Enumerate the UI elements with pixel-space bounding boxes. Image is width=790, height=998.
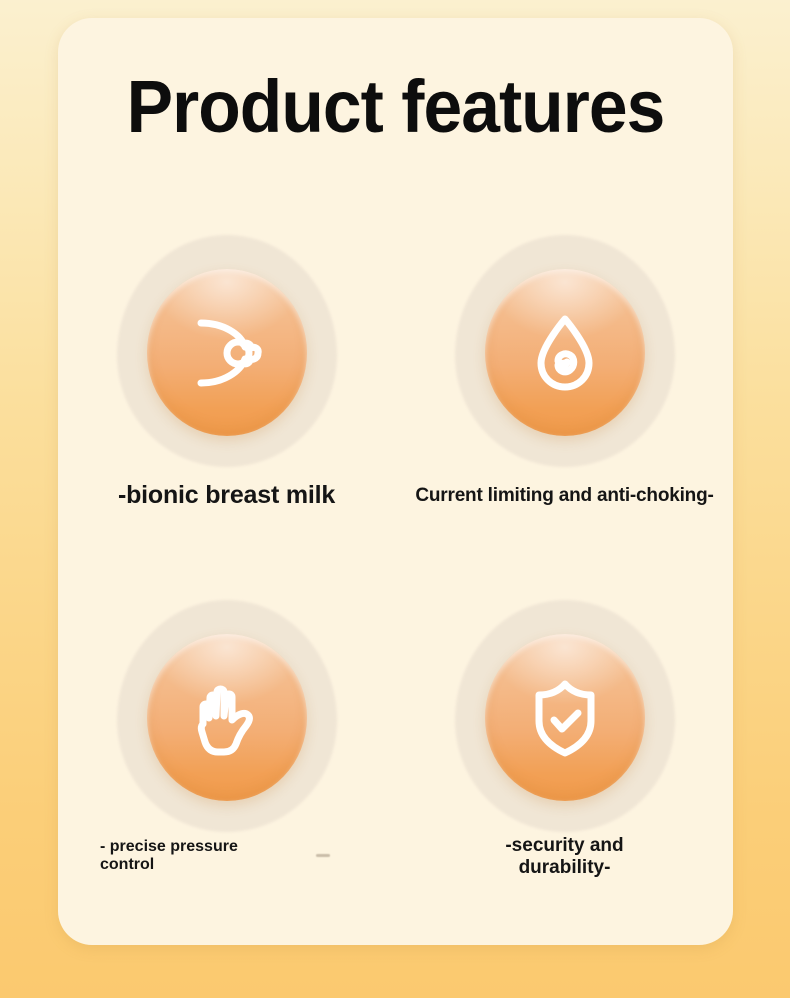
icon-wrap (396, 588, 733, 843)
product-features-page: Product features (0, 0, 790, 998)
feature-item-current-limiting[interactable]: Current limiting and anti-choking- (396, 223, 733, 588)
open-hand-icon (177, 668, 277, 768)
feature-item-precise-pressure-control[interactable]: - precise pressure control (58, 588, 395, 953)
icon-wrap (58, 223, 395, 478)
icon-disc (485, 634, 645, 801)
icon-disc (147, 269, 307, 436)
icon-wrap (58, 588, 395, 843)
page-title: Product features (78, 70, 713, 144)
icon-disc (147, 634, 307, 801)
feature-item-security-durability[interactable]: -security and durability- (396, 588, 733, 953)
droplet-icon (515, 303, 615, 403)
feature-row-2: - precise pressure control -security and… (58, 588, 733, 953)
feature-label: -security and durability- (396, 835, 733, 880)
breast-icon (177, 303, 277, 403)
dash-artifact (316, 854, 330, 857)
feature-grid: -bionic breast milk Current limiting and… (58, 223, 733, 953)
feature-label: Current limiting and anti-choking- (396, 485, 733, 507)
icon-disc (485, 269, 645, 436)
icon-wrap (396, 223, 733, 478)
feature-label: - precise pressure control (100, 838, 340, 875)
feature-card: Product features (58, 18, 733, 945)
shield-check-icon (515, 668, 615, 768)
feature-label: -bionic breast milk (58, 481, 395, 510)
feature-row-1: -bionic breast milk Current limiting and… (58, 223, 733, 588)
feature-item-bionic-breast-milk[interactable]: -bionic breast milk (58, 223, 395, 588)
